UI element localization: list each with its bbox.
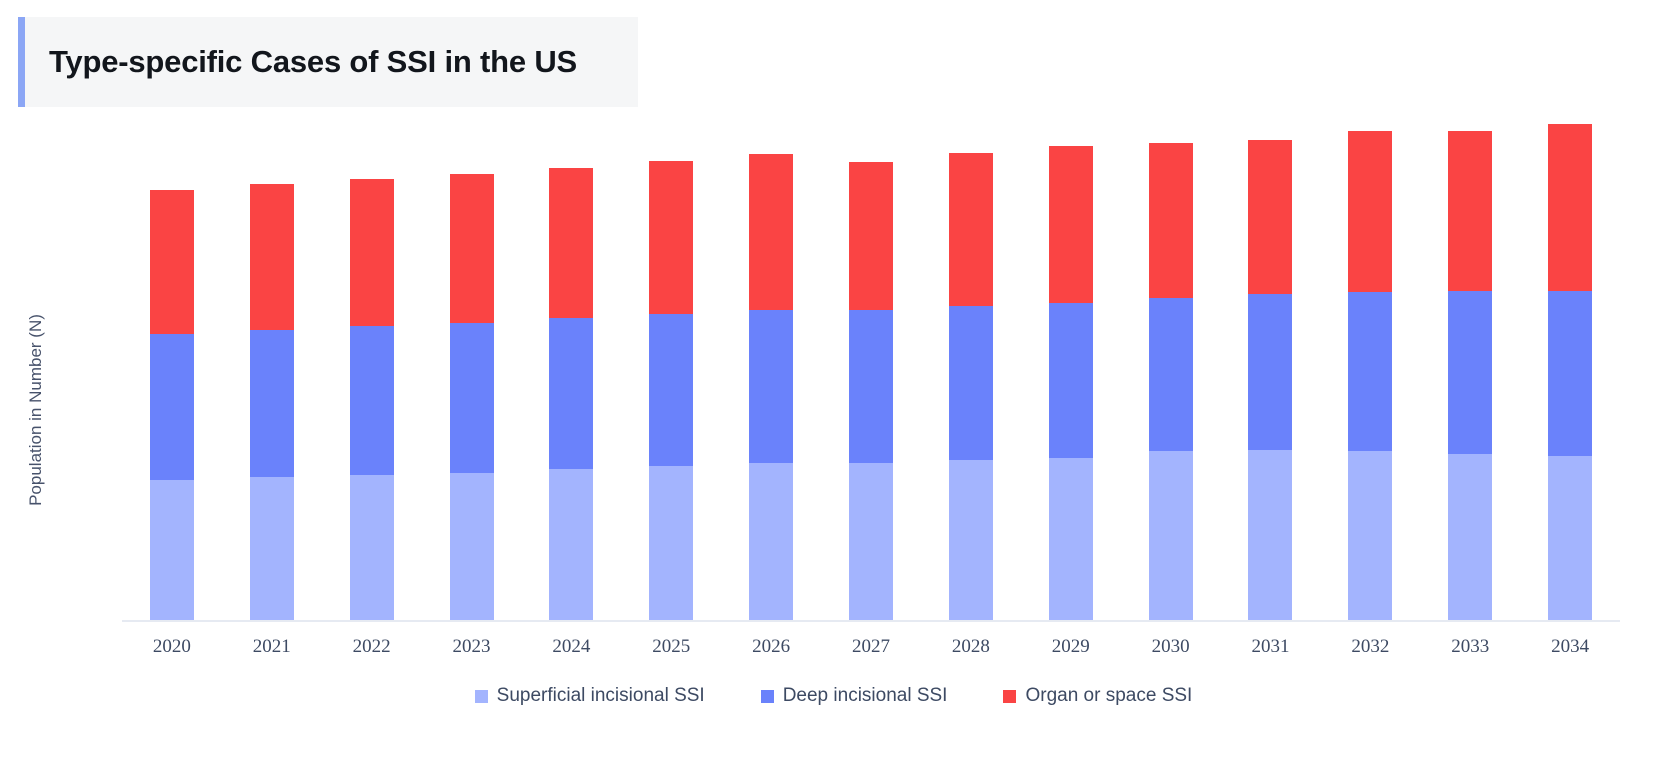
bar-segment[interactable] bbox=[549, 318, 593, 469]
bar-segment[interactable] bbox=[749, 463, 793, 620]
bar-segment[interactable] bbox=[1149, 451, 1193, 620]
y-axis-label: Population in Number (N) bbox=[26, 270, 46, 550]
bar-column[interactable] bbox=[1149, 143, 1193, 620]
bar-segment[interactable] bbox=[849, 162, 893, 309]
bar-segment[interactable] bbox=[1448, 291, 1492, 454]
bar-segment[interactable] bbox=[250, 330, 294, 477]
x-axis-tick-label: 2029 bbox=[1023, 636, 1119, 658]
bar-column[interactable] bbox=[450, 174, 494, 620]
legend-item[interactable]: Organ or space SSI bbox=[1003, 685, 1192, 707]
bar-column[interactable] bbox=[1448, 131, 1492, 620]
legend-label: Deep incisional SSI bbox=[783, 685, 948, 707]
bar-segment[interactable] bbox=[450, 323, 494, 473]
bar-segment[interactable] bbox=[949, 306, 993, 460]
bar-column[interactable] bbox=[1348, 131, 1392, 620]
x-axis-tick-label: 2028 bbox=[923, 636, 1019, 658]
x-axis-tick-label: 2020 bbox=[124, 636, 220, 658]
chart-title-block: Type-specific Cases of SSI in the US bbox=[18, 17, 638, 107]
legend-swatch-icon bbox=[1003, 690, 1016, 703]
x-axis-tick-label: 2023 bbox=[424, 636, 520, 658]
bar-segment[interactable] bbox=[1149, 298, 1193, 451]
legend-swatch-icon bbox=[761, 690, 774, 703]
bar-segment[interactable] bbox=[1348, 451, 1392, 620]
bar-segment[interactable] bbox=[1248, 140, 1292, 294]
bar-column[interactable] bbox=[749, 154, 793, 620]
bar-segment[interactable] bbox=[450, 473, 494, 620]
bar-segment[interactable] bbox=[1548, 456, 1592, 620]
x-axis-tick-label: 2025 bbox=[623, 636, 719, 658]
bar-segment[interactable] bbox=[1548, 124, 1592, 290]
bar-segment[interactable] bbox=[150, 334, 194, 480]
bar-segment[interactable] bbox=[1348, 131, 1392, 292]
bar-column[interactable] bbox=[849, 162, 893, 620]
bar-column[interactable] bbox=[949, 153, 993, 620]
bar-column[interactable] bbox=[1548, 124, 1592, 620]
bar-column[interactable] bbox=[549, 168, 593, 620]
bar-column[interactable] bbox=[350, 179, 394, 620]
legend-item[interactable]: Deep incisional SSI bbox=[761, 685, 948, 707]
x-axis-tick-label: 2027 bbox=[823, 636, 919, 658]
bar-column[interactable] bbox=[150, 190, 194, 620]
bar-column[interactable] bbox=[649, 161, 693, 620]
bar-segment[interactable] bbox=[649, 161, 693, 314]
bar-segment[interactable] bbox=[949, 460, 993, 620]
x-axis-tick-label: 2032 bbox=[1322, 636, 1418, 658]
legend-label: Organ or space SSI bbox=[1025, 685, 1192, 707]
legend-label: Superficial incisional SSI bbox=[497, 685, 705, 707]
bar-segment[interactable] bbox=[949, 153, 993, 306]
bar-segment[interactable] bbox=[1049, 458, 1093, 620]
x-axis-tick-label: 2033 bbox=[1422, 636, 1518, 658]
bar-segment[interactable] bbox=[350, 475, 394, 620]
x-axis-tick-label: 2031 bbox=[1222, 636, 1318, 658]
bar-segment[interactable] bbox=[1248, 450, 1292, 620]
x-axis-baseline bbox=[122, 620, 1620, 622]
bar-segment[interactable] bbox=[849, 310, 893, 463]
legend-item[interactable]: Superficial incisional SSI bbox=[475, 685, 705, 707]
bar-segment[interactable] bbox=[250, 477, 294, 620]
bar-segment[interactable] bbox=[250, 184, 294, 329]
page-title: Type-specific Cases of SSI in the US bbox=[25, 44, 577, 80]
bar-segment[interactable] bbox=[749, 154, 793, 309]
x-axis-tick-label: 2024 bbox=[523, 636, 619, 658]
x-axis-tick-label: 2026 bbox=[723, 636, 819, 658]
bar-segment[interactable] bbox=[1248, 294, 1292, 450]
title-accent-bar bbox=[18, 17, 25, 107]
plot-area bbox=[122, 110, 1620, 620]
x-axis-tick-label: 2030 bbox=[1123, 636, 1219, 658]
chart-container: Population in Number (N) 202020212022202… bbox=[0, 110, 1667, 764]
x-axis-tick-labels: 2020202120222023202420252026202720282029… bbox=[122, 630, 1620, 670]
bar-segment[interactable] bbox=[849, 463, 893, 620]
legend-swatch-icon bbox=[475, 690, 488, 703]
bar-segment[interactable] bbox=[649, 466, 693, 620]
bar-column[interactable] bbox=[1049, 146, 1093, 620]
bar-segment[interactable] bbox=[1448, 131, 1492, 291]
chart-legend: Superficial incisional SSIDeep incisiona… bbox=[0, 685, 1667, 707]
x-axis-tick-label: 2021 bbox=[224, 636, 320, 658]
bar-segment[interactable] bbox=[1448, 454, 1492, 620]
bar-segment[interactable] bbox=[1348, 292, 1392, 452]
bar-segment[interactable] bbox=[749, 310, 793, 463]
bar-segment[interactable] bbox=[150, 190, 194, 334]
bar-segment[interactable] bbox=[549, 168, 593, 319]
bar-segment[interactable] bbox=[649, 314, 693, 466]
x-axis-tick-label: 2034 bbox=[1522, 636, 1618, 658]
bar-column[interactable] bbox=[1248, 140, 1292, 620]
bar-column[interactable] bbox=[250, 184, 294, 620]
bar-segment[interactable] bbox=[1149, 143, 1193, 298]
bar-segment[interactable] bbox=[350, 326, 394, 475]
x-axis-tick-label: 2022 bbox=[324, 636, 420, 658]
bar-segment[interactable] bbox=[350, 179, 394, 326]
bar-segment[interactable] bbox=[450, 174, 494, 323]
bar-segment[interactable] bbox=[1049, 146, 1093, 303]
bar-segment[interactable] bbox=[549, 469, 593, 620]
bar-segment[interactable] bbox=[150, 480, 194, 620]
bar-segment[interactable] bbox=[1548, 291, 1592, 456]
bar-segment[interactable] bbox=[1049, 303, 1093, 458]
